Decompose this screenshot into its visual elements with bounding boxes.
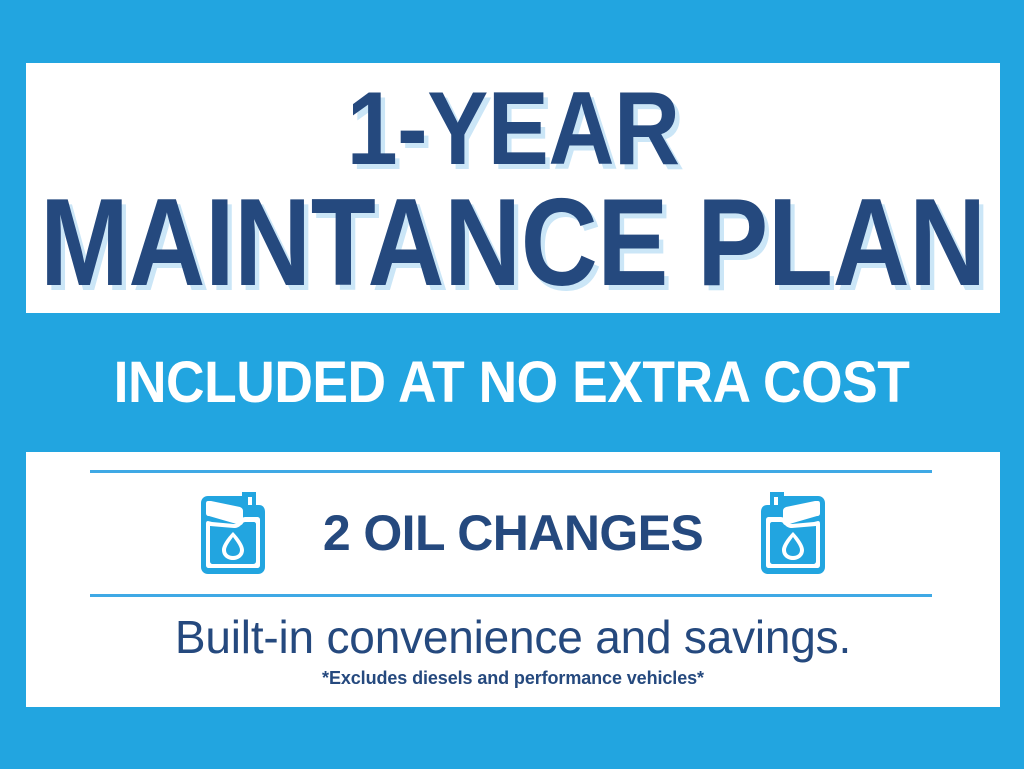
subtitle-band: INCLUDED AT NO EXTRA COST (0, 313, 1024, 452)
feature-label: 2 OIL CHANGES (295, 504, 731, 562)
promo-poster: 1-YEAR MAINTANCE PLAN INCLUDED AT NO EXT… (0, 0, 1024, 769)
disclaimer-text: *Excludes diesels and performance vehicl… (26, 668, 1000, 689)
oil-jug-icon (195, 489, 269, 577)
feature-row: 2 OIL CHANGES (26, 476, 1000, 590)
headline-line-1: 1-YEAR (346, 85, 679, 174)
details-card: 2 OIL CHANGES Built-in convenience and s… (26, 452, 1000, 707)
tagline-text: Built-in convenience and savings. (26, 610, 1000, 664)
headline-card: 1-YEAR MAINTANCE PLAN (26, 63, 1000, 313)
subtitle-text: INCLUDED AT NO EXTRA COST (114, 349, 910, 416)
oil-jug-icon (757, 489, 831, 577)
divider-top (90, 470, 932, 473)
headline-line-2: MAINTANCE PLAN (40, 190, 986, 297)
divider-bottom (90, 594, 932, 597)
